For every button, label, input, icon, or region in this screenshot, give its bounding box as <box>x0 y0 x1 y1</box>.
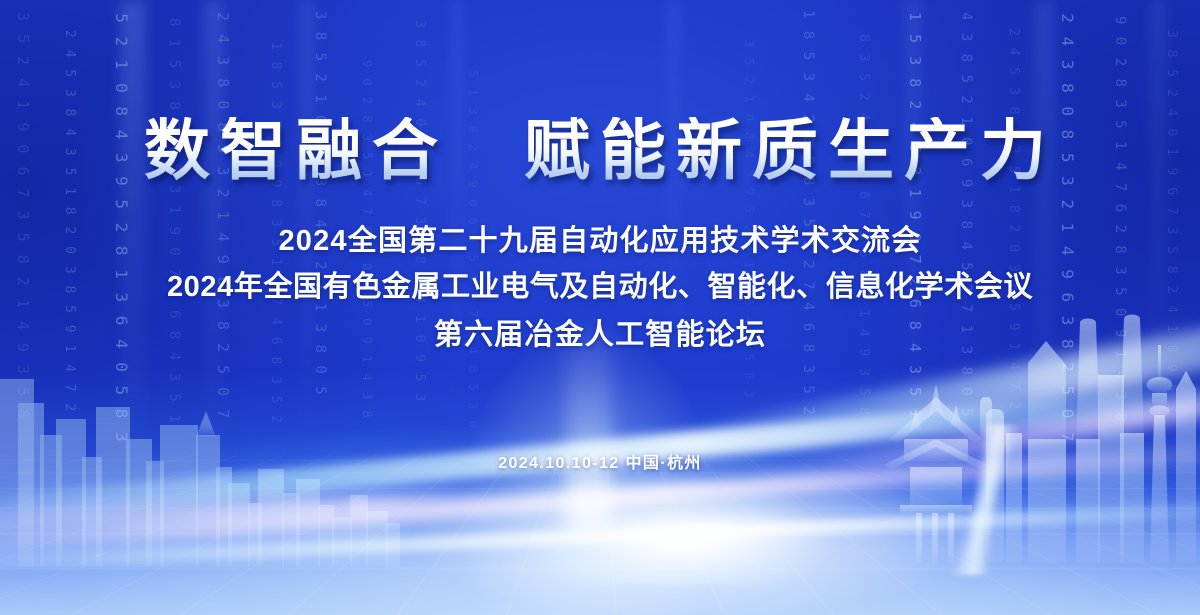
conference-banner: 8 3 5 2 4 1 9 0 6 7 3 5 8 2 1 4 9 3 5 8 … <box>0 0 1200 615</box>
subtitle-line-2: 2024年全国有色金属工业电气及自动化、智能化、信息化学术会议 <box>0 263 1200 305</box>
banner-content: 数智融合 赋能新质生产力 2024全国第二十九届自动化应用技术学术交流会 202… <box>0 0 1200 615</box>
subtitle-line-3: 第六届冶金人工智能论坛 <box>0 311 1200 353</box>
subtitle-line-1: 2024全国第二十九届自动化应用技术学术交流会 <box>0 217 1200 259</box>
event-date-location: 2024.10.10-12 中国·杭州 <box>0 449 1200 473</box>
main-title: 数智融合 赋能新质生产力 <box>0 117 1200 183</box>
